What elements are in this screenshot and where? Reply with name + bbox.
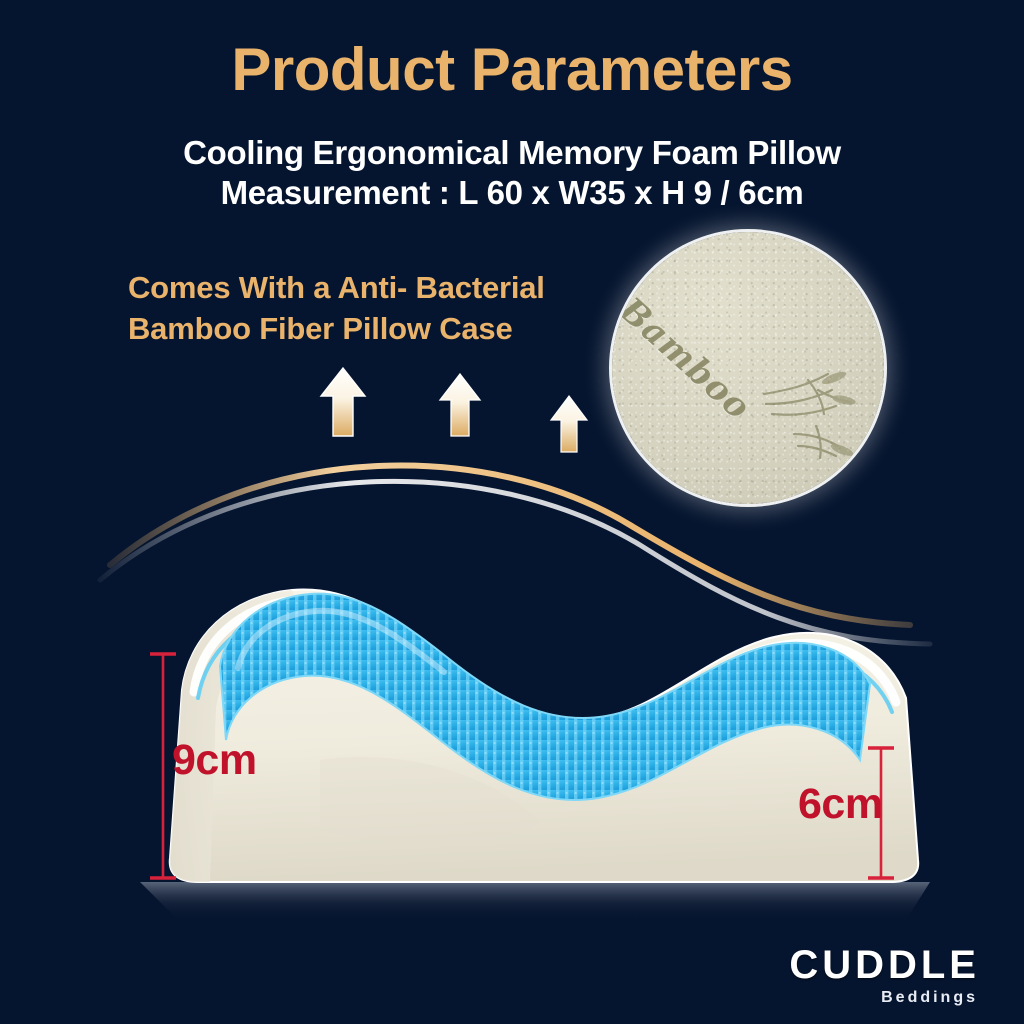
arrow-up-large (318, 366, 368, 438)
brand-logo: CUDDLE Beddings (789, 945, 980, 1006)
product-name-line: Cooling Ergonomical Memory Foam Pillow (0, 134, 1024, 172)
product-parameters-infographic: Product Parameters Cooling Ergonomical M… (0, 0, 1024, 1024)
dimension-label-9cm: 9cm (172, 736, 257, 785)
pillow-reflection (140, 882, 930, 922)
pillow-illustration (70, 430, 970, 930)
feature-callout-line-2: Bamboo Fiber Pillow Case (128, 309, 618, 350)
measurement-line: Measurement : L 60 x W35 x H 9 / 6cm (0, 174, 1024, 212)
dimension-label-6cm: 6cm (798, 780, 883, 829)
brand-name: CUDDLE (789, 945, 980, 985)
page-title: Product Parameters (0, 38, 1024, 101)
brand-tagline: Beddings (789, 990, 978, 1006)
feature-callout: Comes With a Anti- Bacterial Bamboo Fibe… (128, 268, 618, 350)
arrow-up-medium (437, 372, 483, 438)
gold-swoosh-curve (110, 466, 910, 625)
feature-callout-line-1: Comes With a Anti- Bacterial (128, 268, 618, 309)
